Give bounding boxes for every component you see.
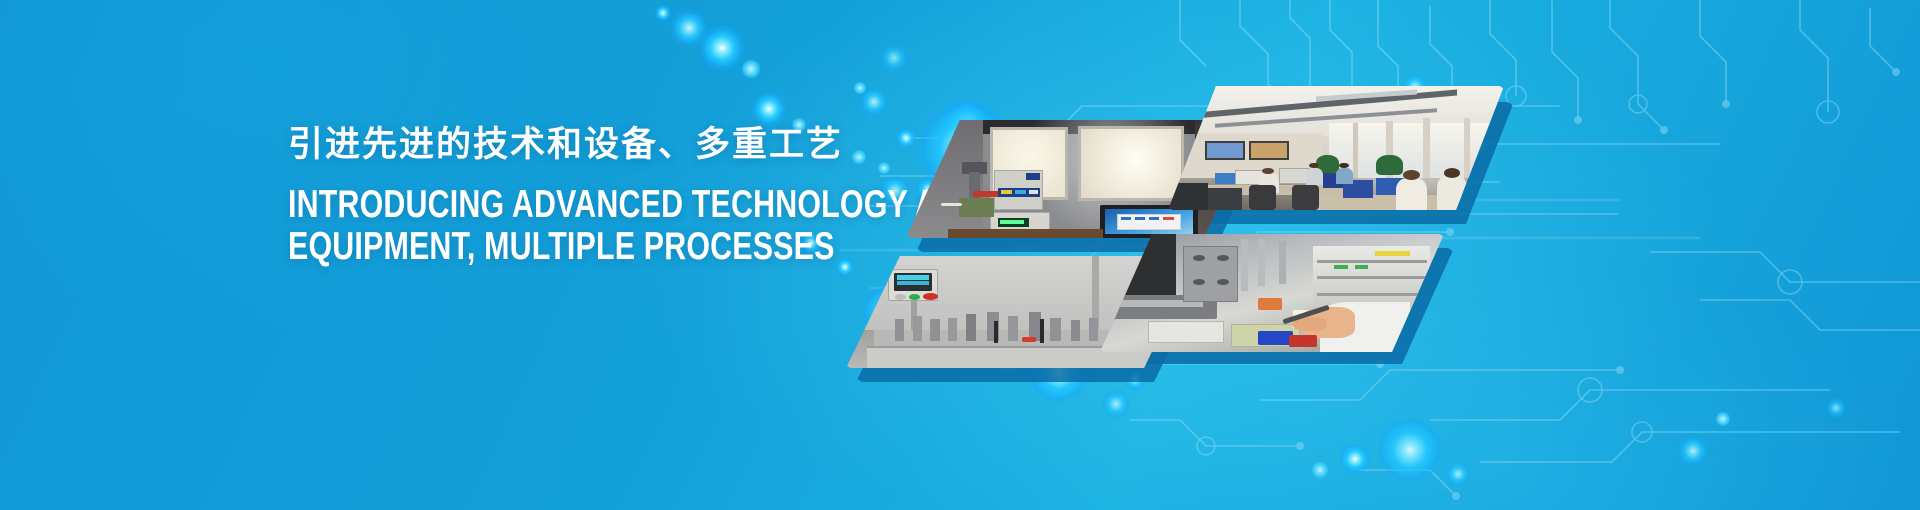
photo-office-workstations [1168, 86, 1504, 210]
hero-banner: 引进先进的技术和设备、多重工艺 INTRODUCING ADVANCED TEC… [0, 0, 1920, 510]
headline-english-line2: EQUIPMENT, MULTIPLE PROCESSES [288, 226, 850, 268]
headline-english-line1: INTRODUCING ADVANCED TECHNOLOGY AND [288, 184, 850, 226]
headline-chinese: 引进先进的技术和设备、多重工艺 [288, 124, 1008, 168]
headline-block: 引进先进的技术和设备、多重工艺 INTRODUCING ADVANCED TEC… [288, 124, 1008, 268]
photo-production-line [1100, 234, 1444, 352]
headline-english: INTRODUCING ADVANCED TECHNOLOGY AND EQUI… [288, 184, 850, 268]
